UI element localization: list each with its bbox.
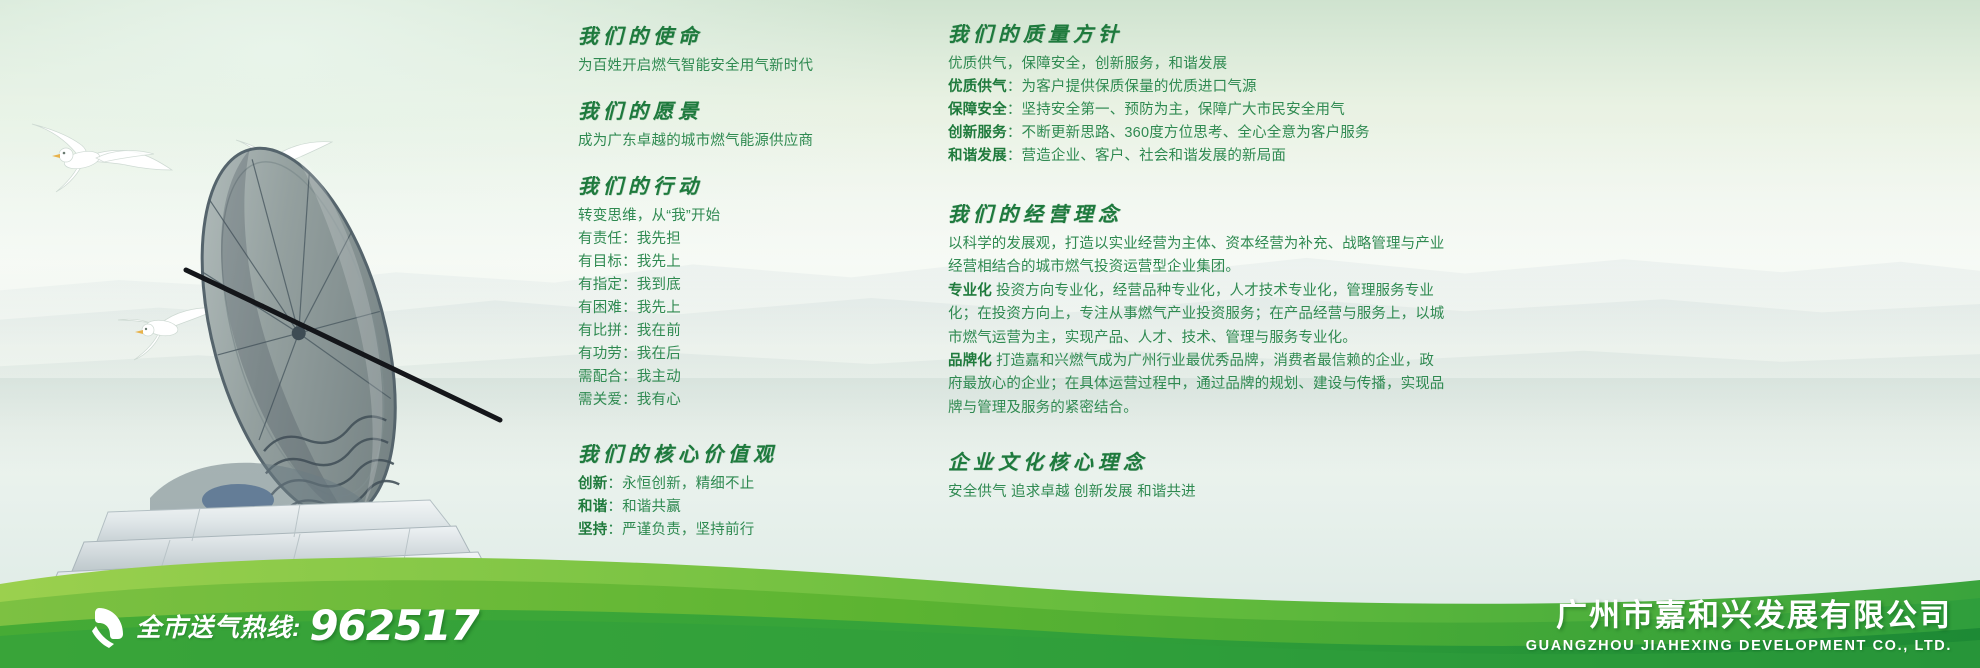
core-value-text: 永恒创新，精细不止 (622, 476, 754, 492)
dove-icon-1 (22, 108, 212, 198)
heading-mission: 我们的使命 (578, 24, 918, 48)
core-value-sep: ： (607, 522, 622, 538)
vision-line: 成为广东卓越的城市燃气能源供应商 (578, 130, 918, 153)
quality-policy-summary: 优质供气，保障安全，创新服务，和谐发展 (948, 53, 1448, 76)
core-value-key: 和谐 (578, 499, 607, 515)
company-lockup: 广州市嘉和兴发展有限公司 GUANGZHOU JIAHEXING DEVELOP… (1526, 590, 1952, 654)
culture-core-line: 安全供气 追求卓越 创新发展 和谐共进 (948, 481, 1448, 504)
action-line: 有功劳：我在后 (578, 343, 918, 366)
heading-management-philosophy: 我们的经营理念 (948, 202, 1448, 226)
dove-icon-3 (108, 280, 248, 366)
management-intro: 以科学的发展观，打造以实业经营为主体、资本经营为补充、战略管理与产业经营相结合的… (948, 233, 1448, 280)
footer-band: 全市送气热线: 962517 广州市嘉和兴发展有限公司 GUANGZHOU JI… (0, 540, 1980, 668)
action-line: 有困难：我先上 (578, 297, 918, 320)
hotline-number: 962517 (309, 601, 478, 650)
item-sep: ： (1007, 125, 1022, 141)
item-key: 保障安全 (948, 102, 1007, 118)
quality-policy-item: 保障安全：坚持安全第一、预防为主，保障广大市民安全用气 (948, 99, 1448, 122)
item-text: 坚持安全第一、预防为主，保障广大市民安全用气 (1022, 102, 1345, 118)
quality-policy-item: 和谐发展：营造企业、客户、社会和谐发展的新局面 (948, 145, 1448, 168)
item-sep: ： (1007, 79, 1022, 95)
item-text: 打造嘉和兴燃气成为广州行业最优秀品牌，消费者最信赖的企业，政府最放心的企业；在具… (948, 353, 1444, 416)
core-value-sep: ： (607, 499, 622, 515)
item-sep: ： (1007, 102, 1022, 118)
hotline-block: 全市送气热线: 962517 (88, 601, 479, 650)
heading-core-values: 我们的核心价值观 (578, 442, 918, 466)
item-text: 营造企业、客户、社会和谐发展的新局面 (1022, 148, 1287, 164)
right-text-column: 我们的质量方针 优质供气，保障安全，创新服务，和谐发展 优质供气：为客户提供保质… (948, 22, 1448, 504)
item-key: 和谐发展 (948, 148, 1007, 164)
action-line: 有责任：我先担 (578, 228, 918, 251)
management-item: 品牌化 打造嘉和兴燃气成为广州行业最优秀品牌，消费者最信赖的企业，政府最放心的企… (948, 350, 1448, 420)
mission-line: 为百姓开启燃气智能安全用气新时代 (578, 55, 918, 78)
core-value-key: 坚持 (578, 522, 607, 538)
action-line: 转变思维，从“我”开始 (578, 205, 918, 228)
quality-policy-item: 创新服务：不断更新思路、360度方位思考、全心全意为客户服务 (948, 122, 1448, 145)
heading-quality-policy: 我们的质量方针 (948, 22, 1448, 46)
left-text-column: 我们的使命 为百姓开启燃气智能安全用气新时代 我们的愿景 成为广东卓越的城市燃气… (578, 24, 918, 542)
dove-icon-2 (228, 112, 358, 198)
core-value-item: 创新：永恒创新，精细不止 (578, 473, 918, 496)
company-name-en: GUANGZHOU JIAHEXING DEVELOPMENT CO., LTD… (1526, 638, 1952, 654)
item-text: 为客户提供保质保量的优质进口气源 (1022, 79, 1257, 95)
action-line: 有指定：我到底 (578, 274, 918, 297)
core-value-text: 严谨负责，坚持前行 (622, 522, 754, 538)
core-value-item: 和谐：和谐共赢 (578, 496, 918, 519)
management-item: 专业化 投资方向专业化，经营品种专业化，人才技术专业化，管理服务专业化；在投资方… (948, 280, 1448, 350)
heading-culture-core: 企业文化核心理念 (948, 450, 1448, 474)
item-text: 投资方向专业化，经营品种专业化，人才技术专业化，管理服务专业化；在投资方向上，专… (948, 283, 1444, 346)
item-key: 创新服务 (948, 125, 1007, 141)
item-key: 品牌化 (948, 353, 992, 369)
core-value-sep: ： (607, 476, 622, 492)
item-key: 优质供气 (948, 79, 1007, 95)
item-sep: ： (1007, 148, 1022, 164)
phone-handset-icon (88, 604, 128, 648)
core-value-item: 坚持：严谨负责，坚持前行 (578, 519, 918, 542)
item-key: 专业化 (948, 283, 992, 299)
quality-policy-item: 优质供气：为客户提供保质保量的优质进口气源 (948, 76, 1448, 99)
action-line: 有目标：我先上 (578, 251, 918, 274)
culture-poster: 我们的使命 为百姓开启燃气智能安全用气新时代 我们的愿景 成为广东卓越的城市燃气… (0, 0, 1980, 668)
action-line: 需关爱：我有心 (578, 389, 918, 412)
action-line: 有比拼：我在前 (578, 320, 918, 343)
core-value-text: 和谐共赢 (622, 499, 681, 515)
core-value-key: 创新 (578, 476, 607, 492)
hotline-label: 全市送气热线: (136, 608, 301, 644)
item-text: 不断更新思路、360度方位思考、全心全意为客户服务 (1022, 125, 1370, 141)
company-name-cn: 广州市嘉和兴发展有限公司 (1526, 590, 1952, 635)
action-line: 需配合：我主动 (578, 366, 918, 389)
heading-vision: 我们的愿景 (578, 99, 918, 123)
heading-action: 我们的行动 (578, 174, 918, 198)
